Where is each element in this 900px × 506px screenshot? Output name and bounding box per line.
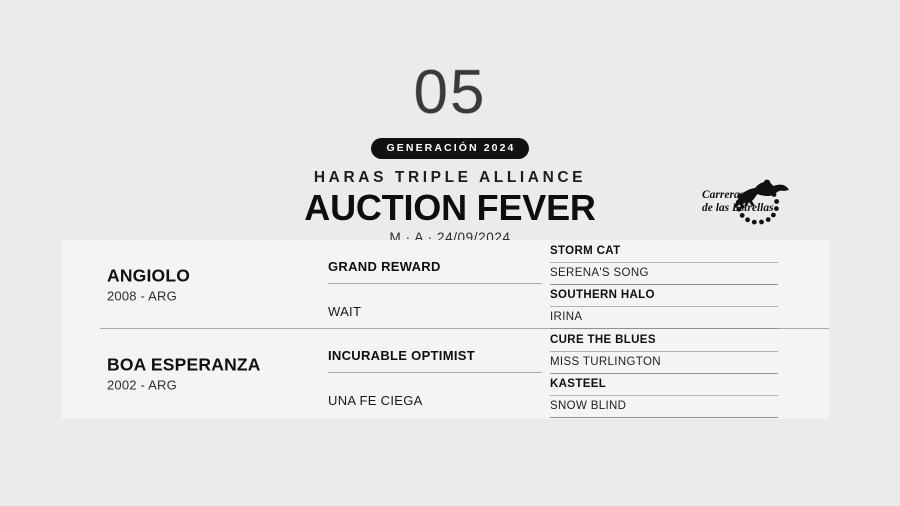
pedigree-grid: ANGIOLO 2008 - ARG GRAND REWARD WAIT <box>62 240 829 419</box>
sire-dam-name: MISS TURLINGTON <box>550 355 661 369</box>
horse-and-jockey-icon: Carreras de las Estrellas <box>698 163 794 237</box>
dam-cell: WAIT <box>328 285 550 329</box>
dam-dam-name: SNOW BLIND <box>550 399 626 413</box>
pedigree-panel: ANGIOLO 2008 - ARG GRAND REWARD WAIT <box>62 240 829 419</box>
dam-cell: UNA FE CIEGA <box>328 374 550 418</box>
dam-dam-cell: IRINA <box>550 307 788 329</box>
sire-sire-cell: STORM CAT <box>550 241 788 263</box>
parents-column: INCURABLE OPTIMIST UNA FE CIEGA <box>328 329 550 418</box>
brand-logo: Carreras de las Estrellas <box>698 163 794 237</box>
sire-sire-cell: CURE THE BLUES <box>550 330 788 352</box>
pedigree-row: ANGIOLO 2008 - ARG GRAND REWARD WAIT <box>62 240 829 329</box>
dam-dam-underline <box>550 417 778 418</box>
subject-horse-year: 2008 - ARG <box>107 287 337 304</box>
sire-underline <box>328 283 542 284</box>
sire-sire-name: CURE THE BLUES <box>550 333 656 347</box>
subject-horse-year: 2002 - ARG <box>107 376 337 393</box>
sire-dam-cell: SERENA'S SONG <box>550 263 788 285</box>
logo-wordmark-line2: de las Estrellas <box>702 202 774 214</box>
sire-name: INCURABLE OPTIMIST <box>328 348 475 364</box>
parents-column: GRAND REWARD WAIT <box>328 240 550 329</box>
dam-sire-cell: SOUTHERN HALO <box>550 285 788 307</box>
sire-cell: GRAND REWARD <box>328 240 550 284</box>
sire-underline <box>328 372 542 373</box>
subject-horse-name: ANGIOLO <box>107 265 337 286</box>
dam-sire-name: KASTEEL <box>550 377 606 391</box>
dam-name: WAIT <box>328 304 361 320</box>
sire-dam-name: SERENA'S SONG <box>550 266 649 280</box>
logo-wordmark-line1: Carreras <box>702 189 745 201</box>
pedigree-row: BOA ESPERANZA 2002 - ARG INCURABLE OPTIM… <box>62 329 829 418</box>
dam-sire-name: SOUTHERN HALO <box>550 288 655 302</box>
sire-sire-name: STORM CAT <box>550 244 620 258</box>
dam-name: UNA FE CIEGA <box>328 393 423 409</box>
dam-sire-cell: KASTEEL <box>550 374 788 396</box>
sire-name: GRAND REWARD <box>328 259 441 275</box>
subject-horse-name: BOA ESPERANZA <box>107 354 337 375</box>
generation-badge-wrap: GENERACIÓN 2024 <box>0 138 900 160</box>
slide-canvas: 05 GENERACIÓN 2024 HARAS TRIPLE ALLIANCE… <box>0 0 900 506</box>
grandparents-column: STORM CAT SERENA'S SONG SOUTHERN HALO IR… <box>550 240 788 329</box>
sire-cell: INCURABLE OPTIMIST <box>328 329 550 373</box>
lot-number: 05 <box>0 62 900 126</box>
grandparents-column: CURE THE BLUES MISS TURLINGTON KASTEEL S… <box>550 329 788 418</box>
dam-underline <box>328 417 542 418</box>
dam-dam-name: IRINA <box>550 310 582 324</box>
subject-horse-cell: ANGIOLO 2008 - ARG <box>107 265 337 304</box>
sire-dam-cell: MISS TURLINGTON <box>550 352 788 374</box>
generation-badge: GENERACIÓN 2024 <box>371 138 530 159</box>
subject-horse-cell: BOA ESPERANZA 2002 - ARG <box>107 354 337 393</box>
dam-dam-cell: SNOW BLIND <box>550 396 788 418</box>
